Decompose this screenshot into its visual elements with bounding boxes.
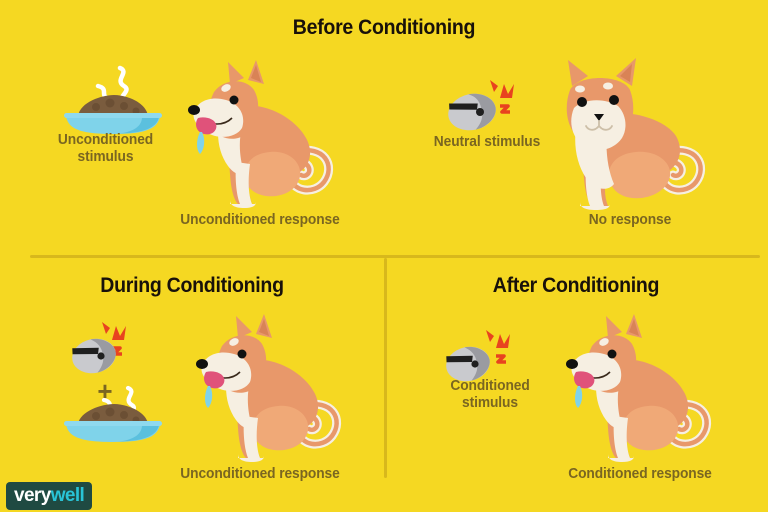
label-no-response: No response [545, 212, 716, 229]
dog-drooling-icon-during [186, 310, 346, 468]
dog-eye-right [609, 95, 619, 105]
dog-eye [238, 350, 247, 359]
dog-nose [566, 359, 578, 369]
dog-drooling-icon-after [556, 310, 716, 468]
section-title-after: After Conditioning [397, 274, 754, 298]
label-conditioned-stimulus: Conditioned stimulus [405, 378, 576, 412]
dog-neutral-icon [552, 56, 712, 214]
logo-text-very: very [14, 485, 51, 506]
bell-icon-during [70, 318, 156, 380]
verywell-logo[interactable]: verywell [6, 482, 92, 510]
dog-nose [188, 105, 200, 115]
horizontal-divider [30, 255, 760, 258]
section-title-before: Before Conditioning [27, 16, 741, 40]
dog-drool [197, 132, 204, 154]
dog-drooling-icon [178, 56, 338, 214]
dog-eye-left [577, 97, 587, 107]
infographic-canvas: Before Conditioning Unconditioned stimul… [0, 0, 768, 512]
section-title-during: During Conditioning [13, 274, 370, 298]
food-bowl-icon-during [58, 388, 168, 446]
dog-drool [575, 386, 582, 408]
bell-icon [442, 72, 528, 134]
label-neutral-stimulus: Neutral stimulus [397, 134, 578, 151]
dog-eye [230, 96, 239, 105]
sound-waves-icon [486, 330, 510, 362]
dog-eye [608, 350, 617, 359]
label-unconditioned-response-during: Unconditioned response [146, 466, 374, 483]
dog-nose [196, 359, 208, 369]
label-unconditioned-response-before: Unconditioned response [146, 212, 374, 229]
dog-drool [205, 386, 212, 408]
label-unconditioned-stimulus: Unconditioned stimulus [22, 132, 188, 166]
vertical-divider [384, 258, 387, 478]
food-bowl-icon [58, 62, 168, 140]
label-conditioned-response: Conditioned response [526, 466, 754, 483]
logo-text-well: well [51, 485, 85, 506]
